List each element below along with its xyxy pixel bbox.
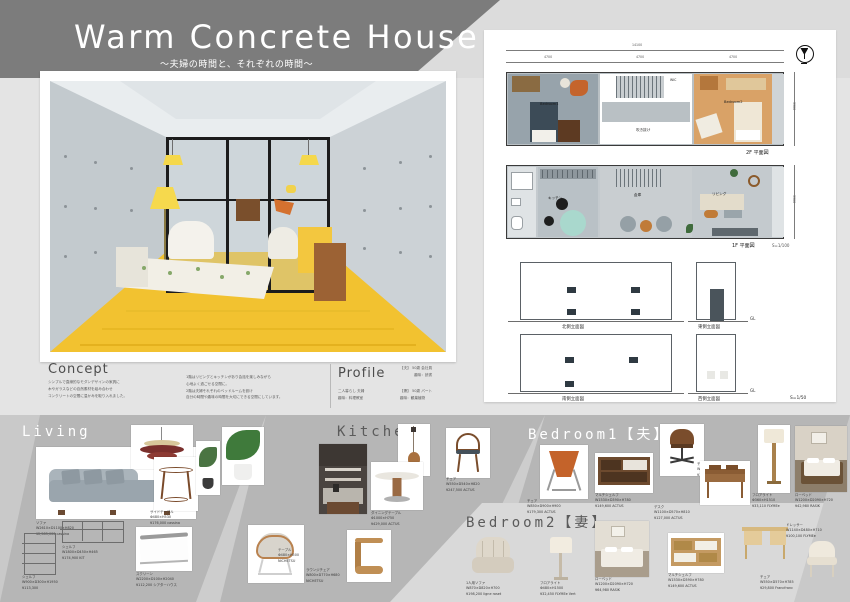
elevation-east <box>696 262 736 320</box>
caption-lounge-chair: ラウンジチェア W800×D770×H680 NICHETSU <box>306 568 340 584</box>
photo-shelf-wide <box>60 519 124 545</box>
photo-butterfly-chair <box>540 445 588 499</box>
photo-low-bed-1 <box>795 426 847 492</box>
profile-person-2: 【妻】 50歳 パート 趣味：観葉植物 <box>400 388 432 402</box>
caption-low-bed-2: ローベッド W1200×D2090×H720 ¥64,980 RASIK <box>595 577 633 593</box>
caption-desk: デスク W1100×D570×H810 ¥127,000 ACTUS <box>654 505 690 521</box>
page-title: Warm Concrete House <box>74 18 479 56</box>
photo-kitchen-interior <box>319 444 367 514</box>
sofa-cushion <box>61 469 80 485</box>
photo-plant-large <box>222 427 264 485</box>
profile-block: Profile 【夫】 50歳 会社員 趣味：読書 二人暮らし 夫婦 趣味：料理… <box>338 362 488 381</box>
caption-side-table: サイドテーブル Φ480×H530 ¥176,000 cassina <box>150 510 180 526</box>
drawing-sheet: 14100 4700 4700 4700 Bedroom1 吹き抜け WIC <box>484 30 836 402</box>
perspective-card <box>40 71 456 362</box>
presentation-board: Warm Concrete House 〜夫婦の時間と、それぞれの時間〜 <box>0 0 850 602</box>
profile-person-1: 【夫】 50歳 会社員 趣味：読書 <box>400 365 432 379</box>
page-subtitle: 〜夫婦の時間と、それぞれの時間〜 <box>160 57 313 70</box>
photo-c-table <box>347 530 391 582</box>
profile-household: 二人暮らし 夫婦 趣味：料理教室 <box>338 388 364 402</box>
caption-c-table: テーブル Φ480×H500 NICHETSU <box>278 548 299 564</box>
section-title-bedroom2: Bedroom2【妻】 <box>466 512 608 532</box>
photo-side-table <box>154 457 198 511</box>
section-title-bedroom1: Bedroom1【夫】 <box>528 424 670 444</box>
caption-low-bed-1: ローベッド W1200×D2090×H720 ¥42,980 RASIK <box>795 493 833 509</box>
sofa-leg <box>110 510 116 515</box>
caption-multi-shelf-2: マルチシェルフ W1530×D390×H780 ¥149,600 ACTUS <box>668 573 704 589</box>
photo-multi-shelf-1 <box>595 453 653 493</box>
caption-screen: スクリーン W2200×D100×H2040 ¥112,200 シアターハウス <box>136 572 177 588</box>
caption-multi-shelf-1: マルチシェルフ W1530×D390×H780 ¥149,600 ACTUS <box>595 493 631 509</box>
concept-profile-divider <box>330 364 331 408</box>
concept-col2: 1階はリビングとキッチンがあり会話を楽しみながら 心地よく過ごせる空間に。 2階… <box>186 374 283 401</box>
elevation-north <box>520 262 672 320</box>
sofa-cushion <box>106 469 125 485</box>
photo-screen <box>136 527 192 571</box>
caption-floor-light-1: フロアライト Φ360×H1510 ¥33,110 FLYMEe <box>752 493 780 509</box>
north-arrow-icon <box>796 45 814 63</box>
caption-shelf-wide: シェルフ W1800×D450×H465 ¥174,900 KIT <box>62 545 98 561</box>
profile-heading: Profile <box>338 366 385 381</box>
photo-dining-table <box>371 462 423 510</box>
interior-perspective-rendering <box>50 81 446 352</box>
photo-single-sofa <box>470 533 516 581</box>
photo-plant-small <box>196 441 220 495</box>
caption-dining-table: ダイニングテーブル Φ1000×H750 ¥429,000 ACTUS <box>371 511 401 527</box>
photo-floor-light-2 <box>546 533 576 583</box>
photo-bedroom2-chair <box>802 535 842 583</box>
elevation-south <box>520 334 672 392</box>
photo-kitchen-chair <box>446 428 490 478</box>
photo-low-bed-2 <box>595 521 649 577</box>
photo-floor-light-1 <box>758 425 790 493</box>
sofa-cushion <box>83 469 102 485</box>
photo-dresser <box>738 519 792 563</box>
section-title-living: Living <box>22 424 91 440</box>
photo-multi-shelf-2 <box>668 533 724 573</box>
photo-shelf-tall <box>22 531 56 575</box>
elevation-west <box>696 334 736 392</box>
photo-desk <box>700 461 750 505</box>
caption-floor-light-2: フロアライト Φ480×H1500 ¥32,450 FLYMEe Vert <box>540 581 576 597</box>
furniture-band: Living ソファ W2610×D1100×H820 ¥2,585,000 c… <box>0 415 850 602</box>
caption-shelf-tall: シェルフ W900×D300×H1950 ¥113,300 <box>22 575 58 591</box>
caption-bedroom2-chair: チェア W550×D570×H785 ¥29,800 Francfranc <box>760 575 794 591</box>
sofa-leg <box>58 510 64 515</box>
caption-kitchen-chair: チェア W550×D540×H820 ¥247,500 ACTUS <box>446 477 480 493</box>
concept-col1: シンプルで直線的なモダンデザインの家具に 木やガラスなどの自然素材を組み合わせ … <box>48 379 127 399</box>
caption-single-sofa: 1人用ソファ W870×D820×H700 ¥198,200 ligne ros… <box>466 581 501 597</box>
